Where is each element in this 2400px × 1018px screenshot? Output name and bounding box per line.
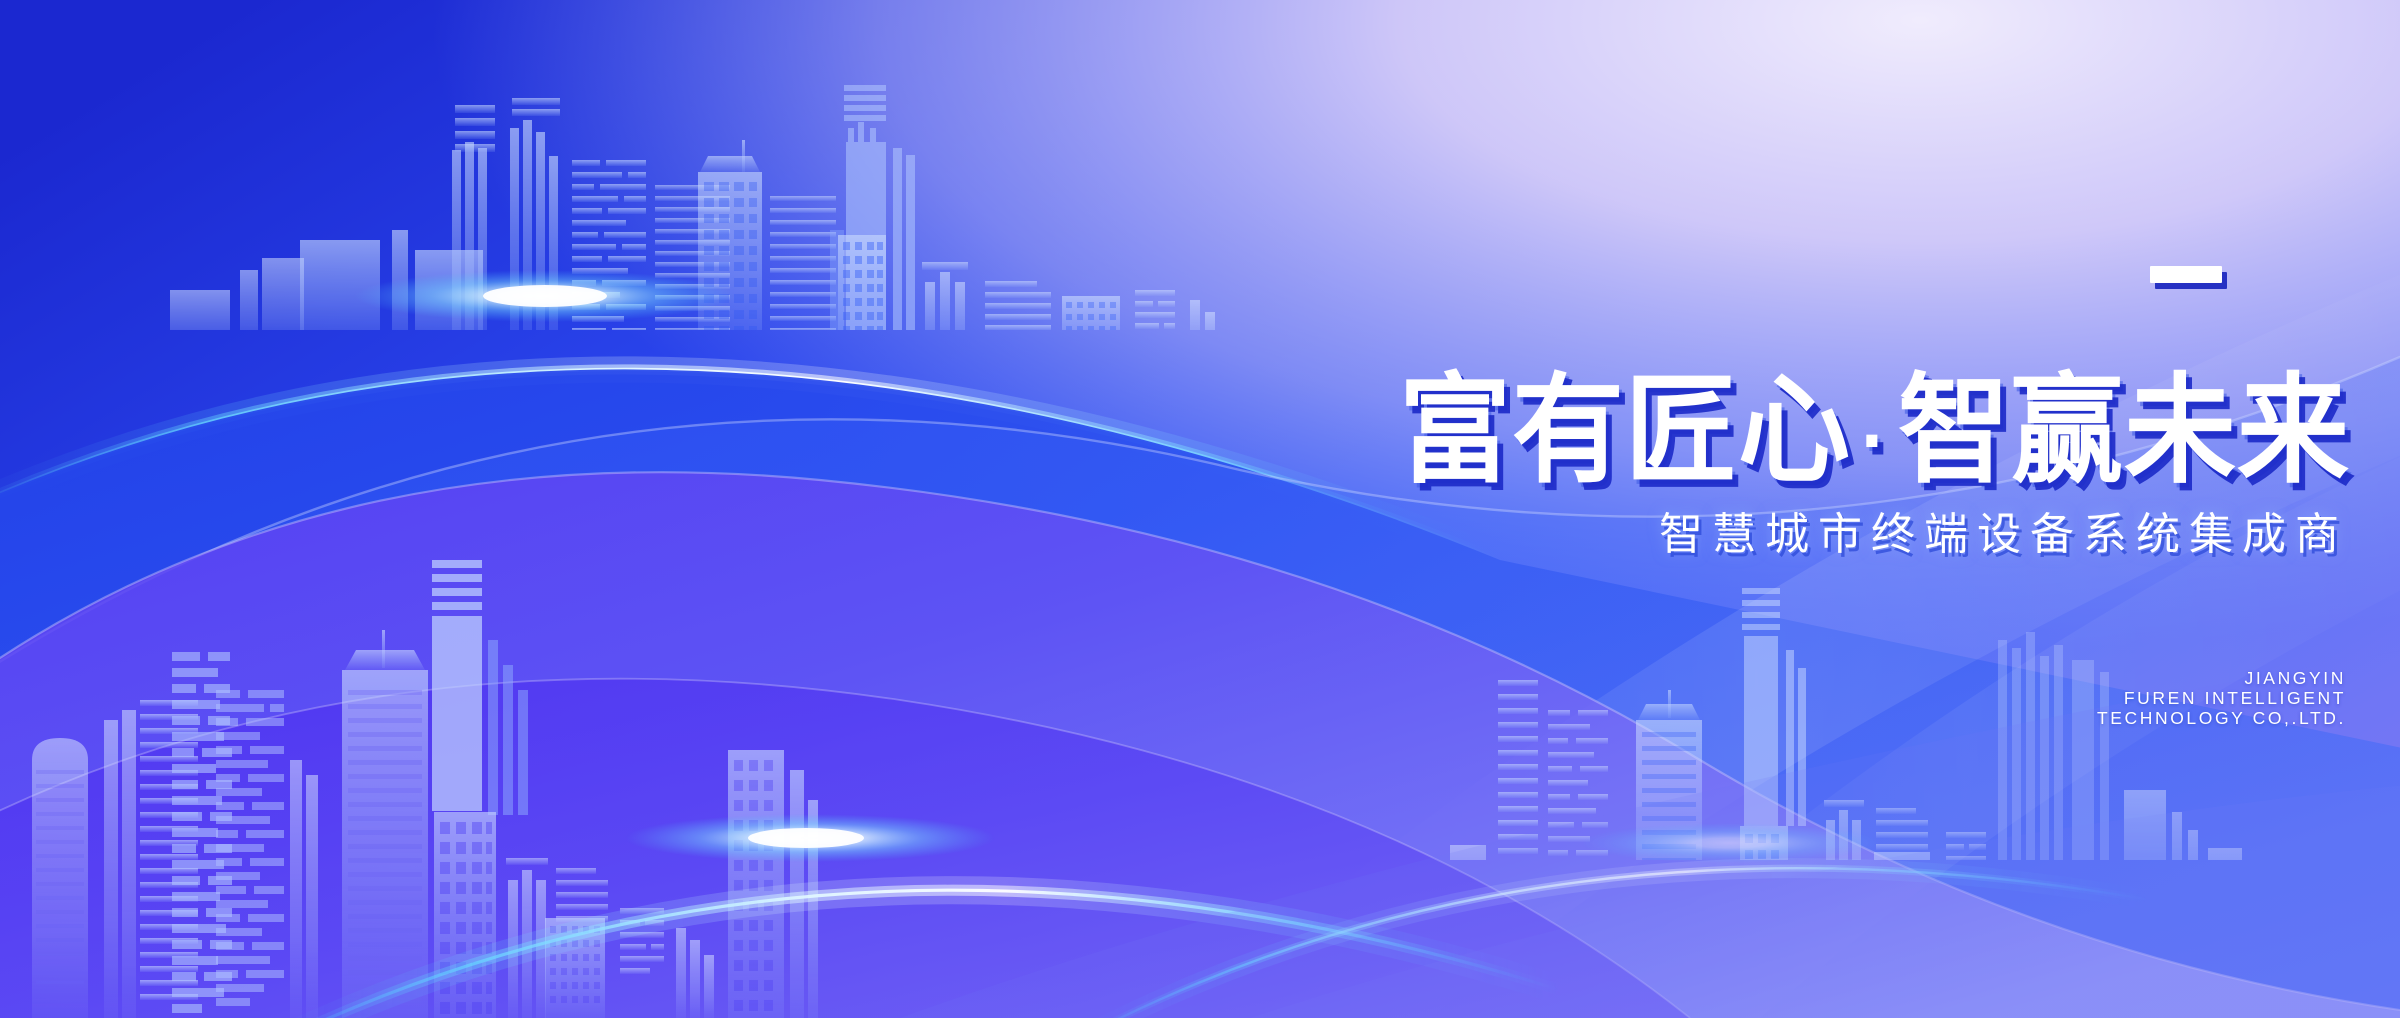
banner-canvas: 富有匠心·智赢未来 智慧城市终端设备系统集成商 JIANGYIN FUREN I… [0,0,2400,1018]
background-artwork [0,0,2400,1018]
